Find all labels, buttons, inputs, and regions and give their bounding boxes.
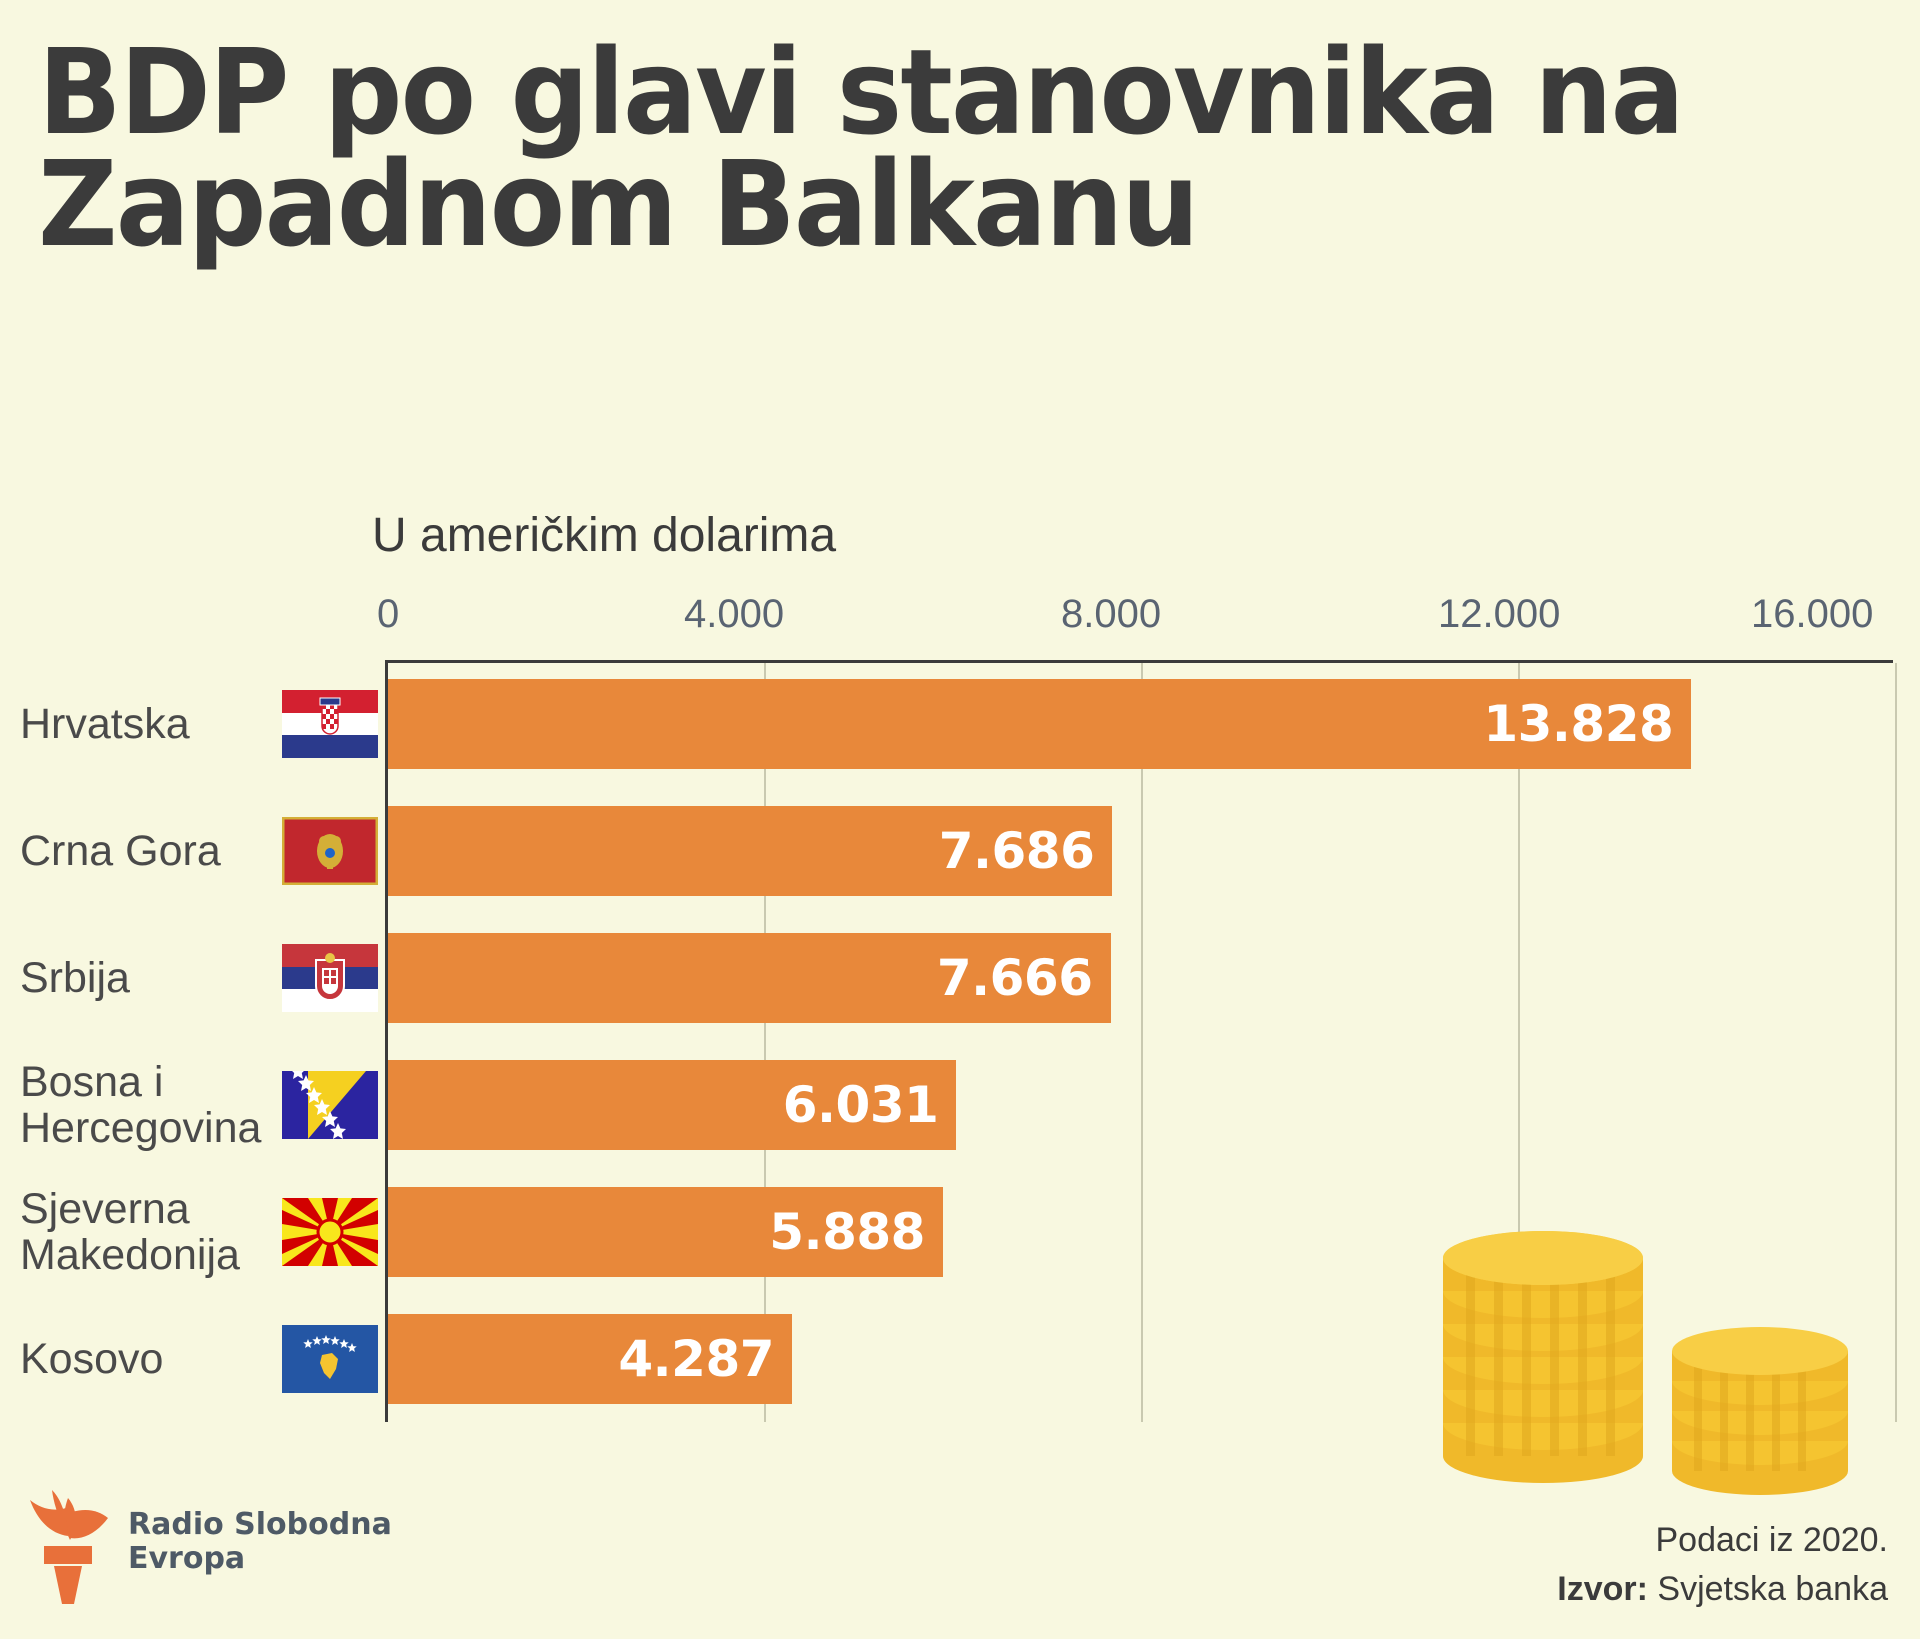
x-tick-8000: 8.000 [1061,592,1161,637]
bar-value-label: 6.031 [783,1076,957,1134]
bar-value-label: 4.287 [618,1330,792,1388]
chart-subtitle: U američkim dolarima [372,508,836,563]
bar-value-label: 13.828 [1483,695,1691,753]
source-line: Izvor: Svjetska banka [1557,1565,1888,1614]
value-bar: 6.031 [388,1060,956,1150]
bar-row: Crna Gora 7.686 [0,787,1920,914]
value-bar: 7.686 [388,806,1112,896]
value-bar: 5.888 [388,1187,943,1277]
value-bar: 7.666 [388,933,1111,1023]
x-tick-4000: 4.000 [684,592,784,637]
value-bar: 4.287 [388,1314,792,1404]
country-label: Kosovo [20,1336,320,1382]
bar-row: Srbija 7.666 [0,914,1920,1041]
country-label: Sjeverna Makedonija [20,1186,320,1278]
flag-montenegro-icon [282,817,378,885]
source-value: Svjetska banka [1657,1570,1888,1608]
source-label: Izvor: [1557,1570,1648,1608]
bar-row: Bosna i Hercegovina 6.031 [0,1041,1920,1168]
x-tick-0: 0 [377,592,399,637]
flag-serbia-icon [282,944,378,1012]
logo-line-1: Radio Slobodna [128,1507,392,1542]
country-label: Srbija [20,955,320,1001]
country-label: Hrvatska [20,701,320,747]
bar-row: Hrvatska 13.828 [0,660,1920,787]
x-tick-12000: 12.000 [1438,592,1560,637]
logo-text: Radio SlobodnaEvropa [128,1508,392,1575]
coin-stacks-illustration [1438,1228,1868,1503]
bar-value-label: 5.888 [769,1203,943,1261]
bar-value-label: 7.666 [937,949,1111,1007]
coins-icon [1438,1228,1868,1503]
logo-line-2: Evropa [128,1541,245,1576]
x-tick-16000: 16.000 [1751,592,1873,637]
source-footer: Podaci iz 2020. Izvor: Svjetska banka [1557,1516,1888,1615]
flag-bosnia-herzegovina-icon [282,1071,378,1139]
flag-north-macedonia-icon [282,1198,378,1266]
flag-kosovo-icon [282,1325,378,1393]
bar-value-label: 7.686 [939,822,1113,880]
title-line-1: BDP po glavi stanovnika na [38,36,1749,148]
data-year: Podaci iz 2020. [1557,1516,1888,1565]
page-title: BDP po glavi stanovnika na Zapadnom Balk… [38,36,1878,260]
rfe-logo: Radio SlobodnaEvropa [22,1478,392,1606]
country-label: Crna Gora [20,828,320,874]
country-label: Bosna i Hercegovina [20,1059,320,1151]
value-bar: 13.828 [388,679,1691,769]
torch-icon [22,1478,114,1606]
flag-croatia-icon [282,690,378,758]
title-line-2: Zapadnom Balkanu [38,148,1749,260]
